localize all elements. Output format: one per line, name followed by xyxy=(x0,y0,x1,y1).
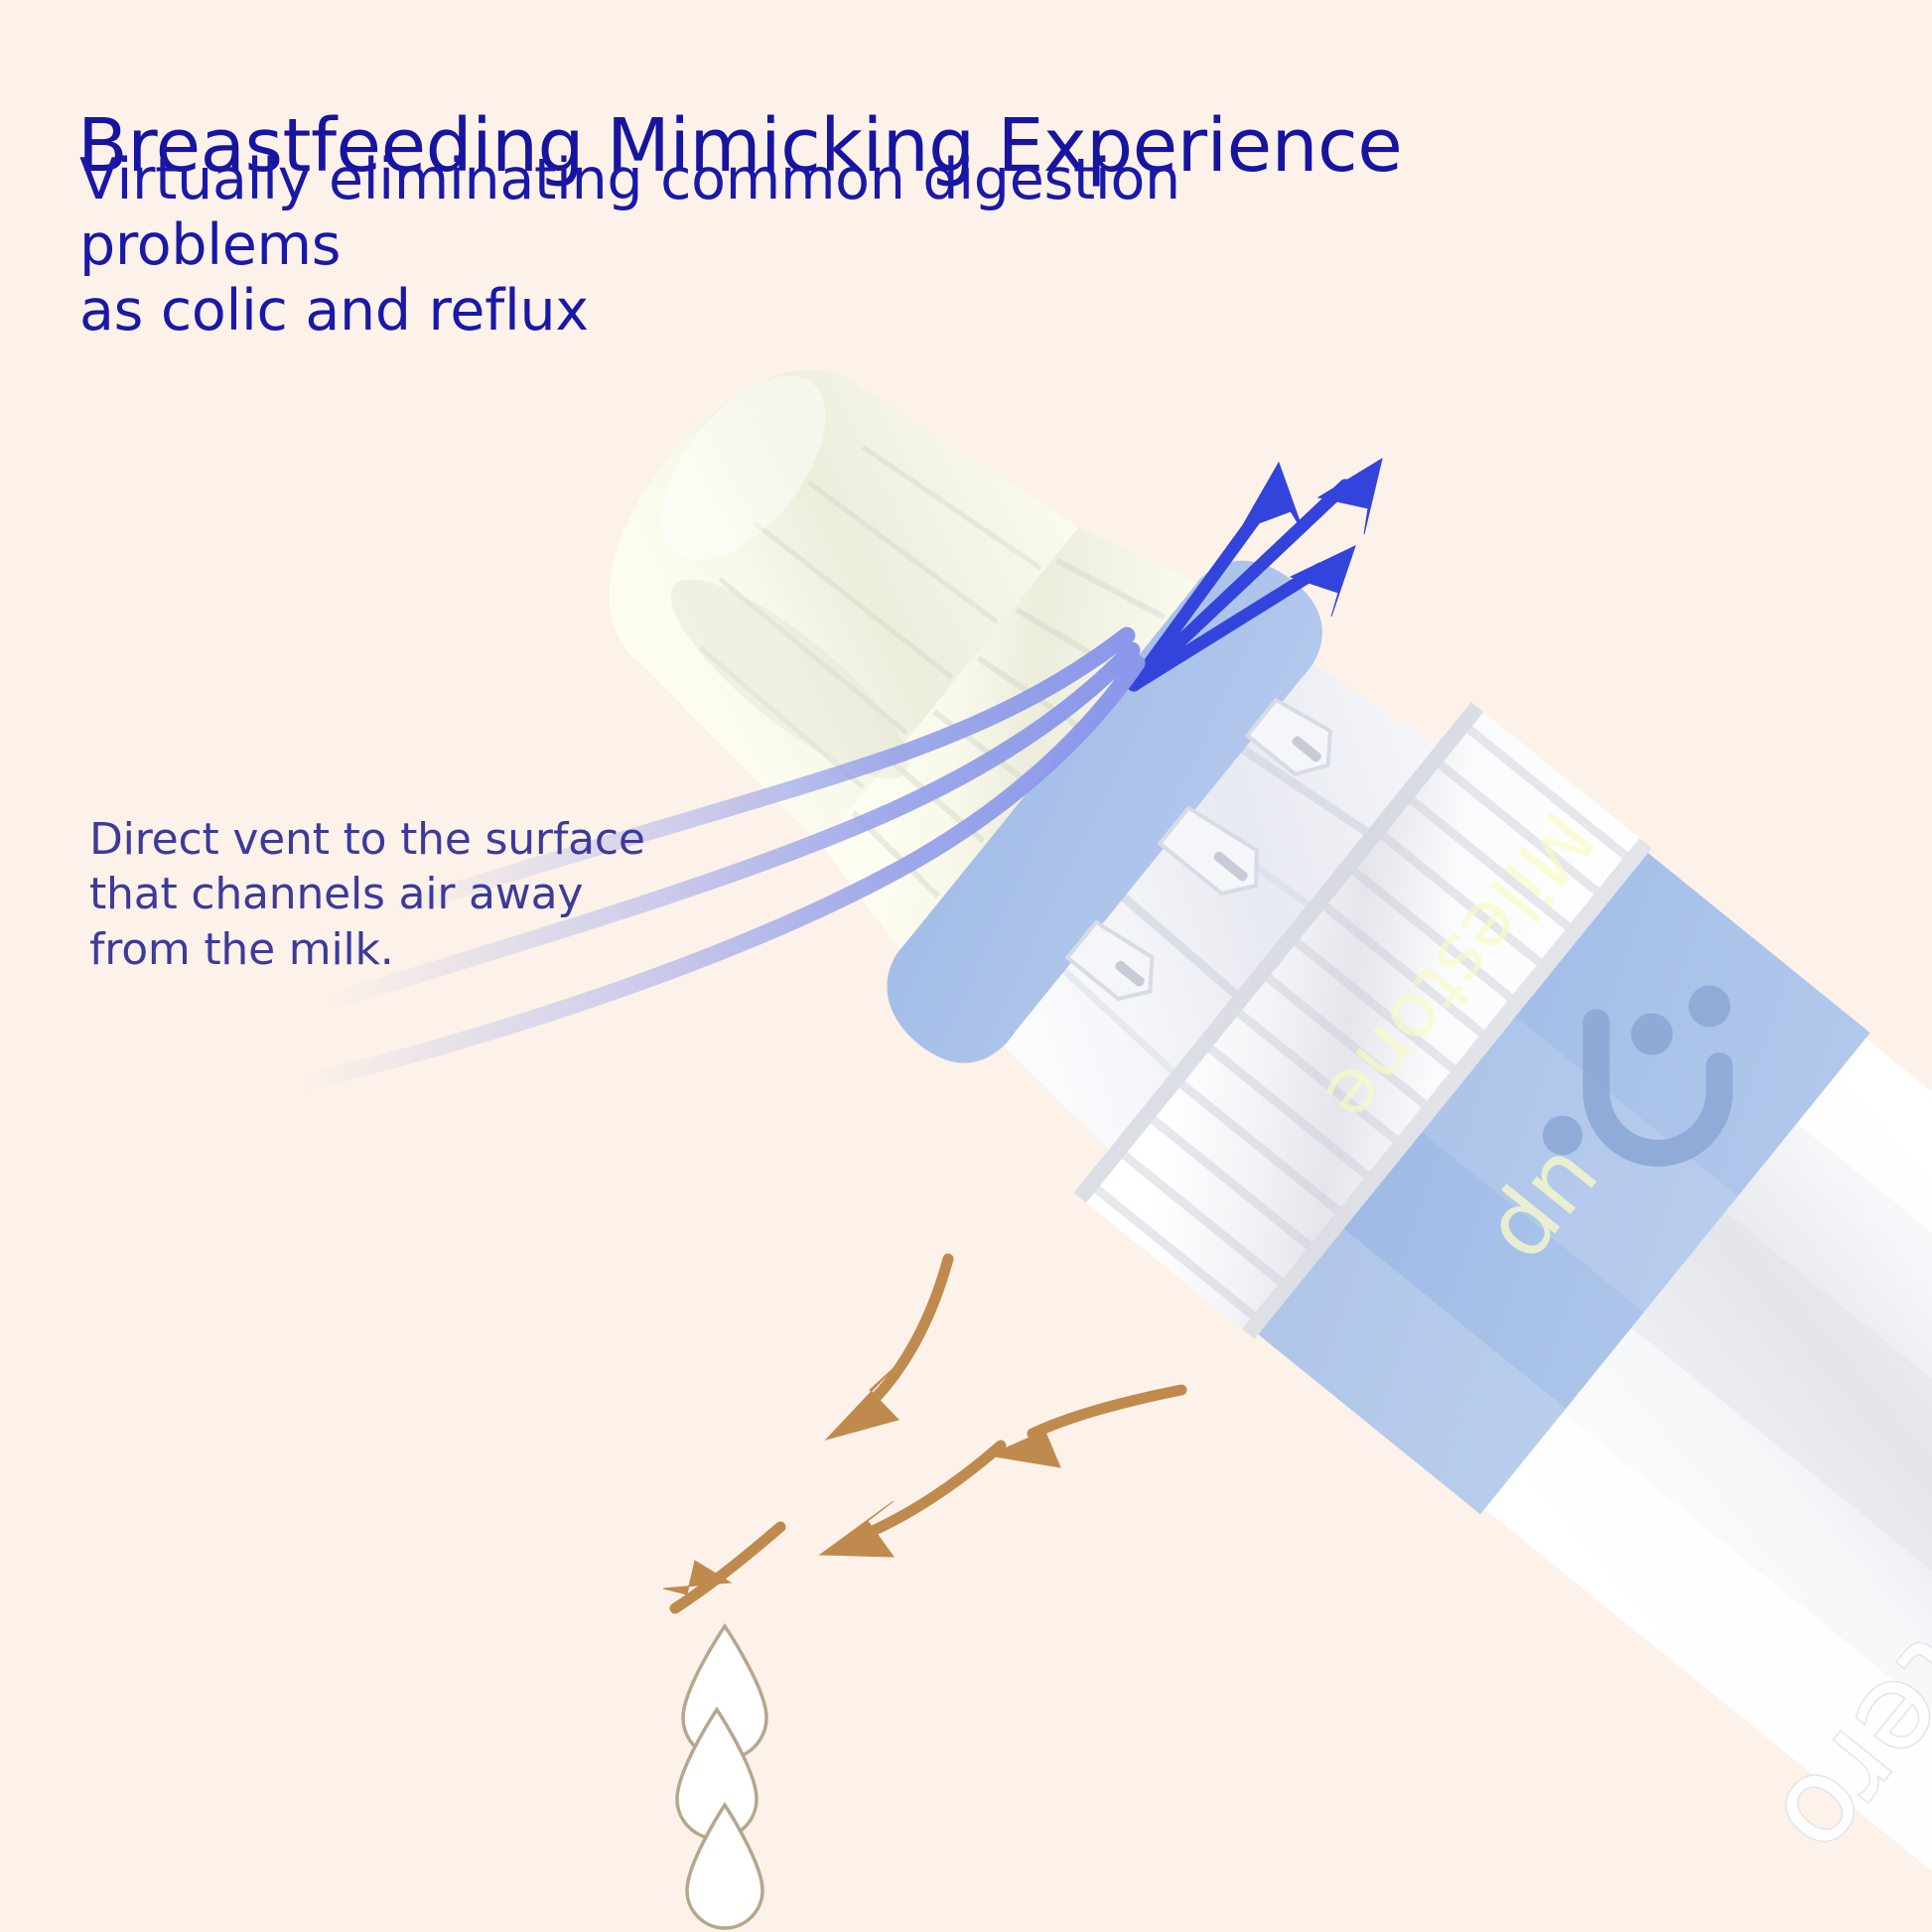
callout-line-1: Direct vent to the surface xyxy=(89,812,705,867)
callout-line-2: that channels air away xyxy=(89,867,705,921)
callout-line-3: from the milk. xyxy=(89,922,705,977)
milk-arrow-1 xyxy=(826,1259,948,1440)
milk-arrow-3 xyxy=(820,1446,1001,1557)
milk-flow-arrows xyxy=(663,1259,1181,1608)
infographic-canvas: tero up Milestone xyxy=(0,0,1932,1932)
milk-arrow-2 xyxy=(989,1390,1181,1467)
milk-arrow-4 xyxy=(663,1527,780,1608)
subtitle-line-2: as colic and reflux xyxy=(79,278,1449,344)
milk-droplets xyxy=(677,1626,766,1928)
page-subtitle: Virtually eliminating common digestion p… xyxy=(79,147,1449,344)
vent-callout-text: Direct vent to the surface that channels… xyxy=(89,812,705,977)
subtitle-line-1: Virtually eliminating common digestion p… xyxy=(79,147,1180,278)
